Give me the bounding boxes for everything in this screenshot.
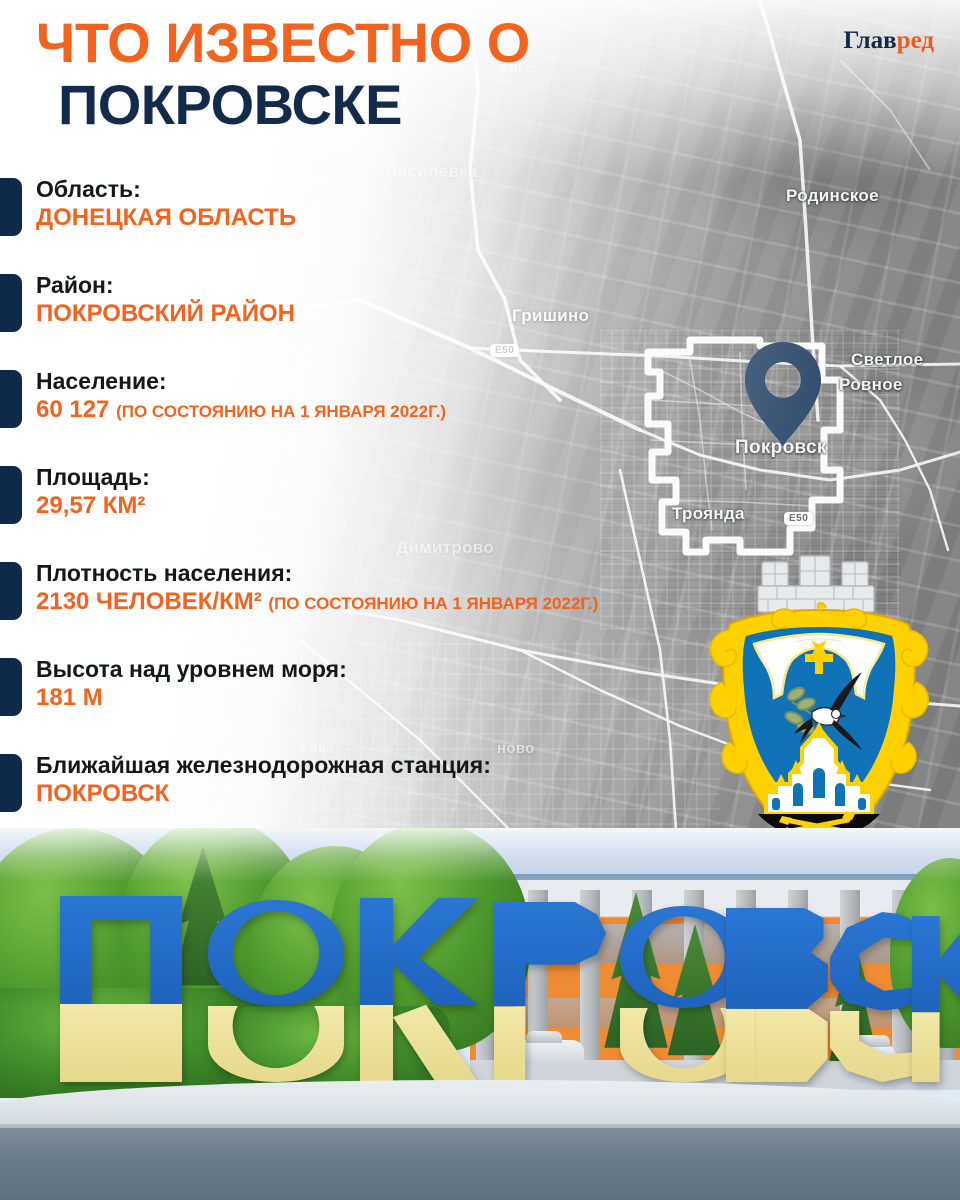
fact-value-main: ПОКРОВСКИЙ РАЙОН (36, 300, 295, 327)
logo-part-glav: Глав (844, 27, 897, 54)
fact-value-suffix: (ПО СОСТОЯНИЮ НА 1 ЯНВАРЯ 2022Г.) (116, 402, 446, 421)
fact-value: 181 М (36, 684, 780, 713)
fact-row-density: Плотность населения: 2130 ЧЕЛОВЕК/КМ² (П… (0, 560, 780, 656)
fact-value-main: 60 127 (36, 396, 109, 423)
bullet-marker (0, 562, 22, 620)
monument-letter-k (360, 898, 478, 1082)
monument-letter-r (494, 902, 606, 1082)
glavred-logo[interactable]: Главред (844, 28, 934, 53)
fact-label: Область: (36, 176, 780, 202)
facts-list: Область: ДОНЕЦКАЯ ОБЛАСТЬ Район: ПОКРОВС… (0, 176, 780, 848)
fact-row-population: Население: 60 127 (ПО СОСТОЯНИЮ НА 1 ЯНВ… (0, 368, 780, 464)
fact-value-main: 2130 ЧЕЛОВЕК/КМ² (36, 588, 262, 615)
fact-label: Район: (36, 272, 780, 298)
fact-row-rayon: Район: ПОКРОВСКИЙ РАЙОН (0, 272, 780, 368)
fact-label: Плотность населения: (36, 560, 780, 586)
fact-label: Население: (36, 368, 780, 394)
fact-value: ПОКРОВСК (36, 780, 780, 809)
logo-part-red: ред (897, 27, 934, 54)
road-shield-e50-south: E50 (784, 512, 813, 525)
fact-value: 60 127 (ПО СОСТОЯНИЮ НА 1 ЯНВАРЯ 2022Г.) (36, 396, 780, 425)
fact-row-area: Площадь: 29,57 КМ² (0, 464, 780, 560)
map-label-rovnoe: Ровное (839, 375, 903, 395)
fact-value: ПОКРОВСКИЙ РАЙОН (36, 300, 780, 329)
city-monument-photo (0, 828, 960, 1200)
monument-plinth-face (0, 1128, 960, 1200)
fact-label: Ближайшая железнодорожная станция: (36, 752, 780, 778)
title-line-2: ПОКРОВСКЕ (58, 78, 530, 132)
bullet-marker (0, 370, 22, 428)
fact-value-main: 29,57 КМ² (36, 492, 145, 519)
bullet-marker (0, 658, 22, 716)
infographic-root: E50 E50 Василевка Родинское Гришино Свет… (0, 0, 960, 1200)
fact-row-oblast: Область: ДОНЕЦКАЯ ОБЛАСТЬ (0, 176, 780, 272)
fact-value: ДОНЕЦКАЯ ОБЛАСТЬ (36, 204, 780, 233)
fact-value-main: ПОКРОВСК (36, 780, 169, 807)
coat-of-arms-pokrovsk (684, 552, 954, 872)
bullet-marker (0, 178, 22, 236)
bullet-marker (0, 466, 22, 524)
monument-letter-p (60, 896, 182, 1082)
monument-letter-o (208, 900, 344, 1082)
map-label-svetloe: Светлое (851, 350, 923, 370)
monument-letter-v (726, 908, 832, 1082)
fact-value-main: 181 М (36, 684, 103, 711)
fact-row-elevation: Высота над уровнем моря: 181 М (0, 656, 780, 752)
fact-value: 29,57 КМ² (36, 492, 780, 521)
page-title: ЧТО ИЗВЕСТНО О ПОКРОВСКЕ (36, 16, 530, 132)
fact-value-main: ДОНЕЦКАЯ ОБЛАСТЬ (36, 204, 296, 231)
bullet-marker (0, 754, 22, 812)
title-line-1: ЧТО ИЗВЕСТНО О (36, 16, 530, 70)
fact-label: Площадь: (36, 464, 780, 490)
map-label-rodinskoe: Родинское (786, 186, 879, 206)
fact-value-suffix: (ПО СОСТОЯНИЮ НА 1 ЯНВАРЯ 2022Г.) (268, 594, 598, 613)
bullet-marker (0, 274, 22, 332)
fact-value: 2130 ЧЕЛОВЕК/КМ² (ПО СОСТОЯНИЮ НА 1 ЯНВА… (36, 588, 780, 617)
fact-label: Высота над уровнем моря: (36, 656, 780, 682)
mural-crown-icon (758, 556, 874, 612)
monument-letter-k2 (912, 916, 960, 1082)
